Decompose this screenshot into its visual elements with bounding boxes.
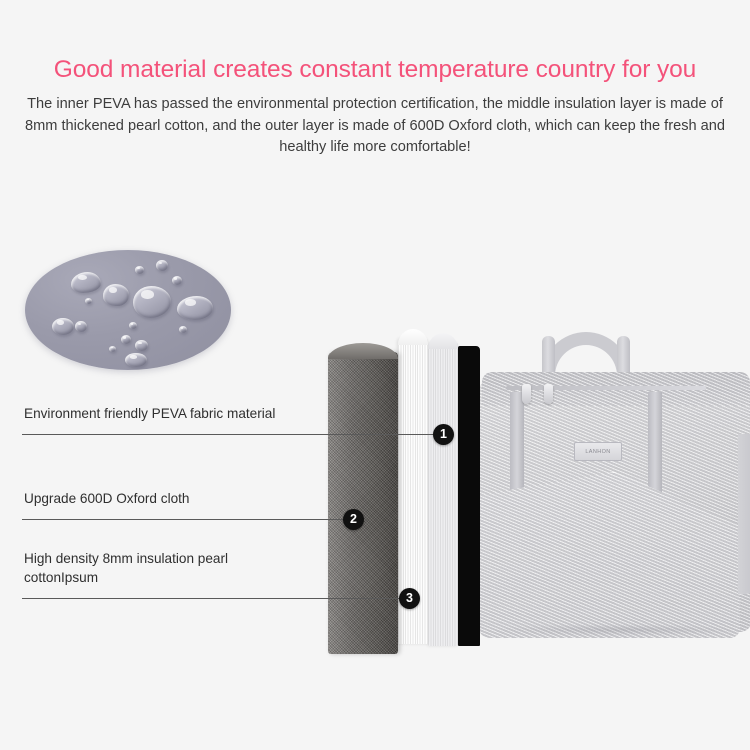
water-droplet [133, 286, 171, 318]
page-description: The inner PEVA has passed the environmen… [18, 94, 732, 159]
water-droplet [85, 298, 92, 304]
water-droplet [71, 272, 101, 293]
layer-top-cap [328, 343, 398, 359]
callout-badge-2: 2 [343, 509, 364, 530]
edge-binding-layer [458, 346, 480, 646]
peva-inner-lining-layer [428, 342, 458, 646]
layer-top-cap [428, 333, 458, 349]
callout-3: High density 8mm insulation pearl cotton… [24, 549, 228, 587]
bag-zipper [506, 386, 706, 390]
callout-2-leader-line [22, 519, 344, 520]
water-droplet-fabric-swatch [25, 250, 231, 370]
callout-badge-1: 1 [433, 424, 454, 445]
water-droplet [172, 276, 182, 285]
bag-side-panel [738, 434, 750, 594]
water-droplet [121, 335, 131, 344]
water-droplet [75, 321, 87, 332]
water-droplet [156, 260, 168, 271]
callout-3-leader-line [22, 598, 400, 599]
zipper-pull-right [544, 384, 553, 404]
callout-2: Upgrade 600D Oxford cloth [24, 489, 189, 508]
callout-1-label: Environment friendly PEVA fabric materia… [24, 404, 275, 423]
water-droplet [125, 353, 147, 367]
water-droplet [177, 296, 213, 320]
water-droplet [109, 346, 116, 352]
callout-3-label: High density 8mm insulation pearl cotton… [24, 549, 228, 587]
water-droplet [129, 322, 137, 329]
material-layer-diagram [318, 338, 498, 663]
zipper-pull-left [522, 384, 531, 404]
water-droplet [52, 318, 74, 335]
layer-top-cap [398, 329, 428, 345]
water-droplet [135, 340, 148, 351]
callout-1-leader-line [22, 434, 434, 435]
callout-1: Environment friendly PEVA fabric materia… [24, 404, 275, 423]
brand-label: LANHON [574, 442, 622, 461]
water-droplet [103, 284, 129, 306]
water-droplet [135, 266, 144, 274]
callout-2-label: Upgrade 600D Oxford cloth [24, 489, 189, 508]
page-title: Good material creates constant temperatu… [0, 56, 750, 84]
outer-oxford-fabric-layer [328, 352, 398, 654]
infographic-canvas: Good material creates constant temperatu… [0, 0, 750, 750]
bag-shadow [488, 624, 748, 636]
callout-badge-3: 3 [399, 588, 420, 609]
insulated-tote-bag: LANHON [470, 322, 750, 672]
water-droplet [179, 326, 187, 333]
